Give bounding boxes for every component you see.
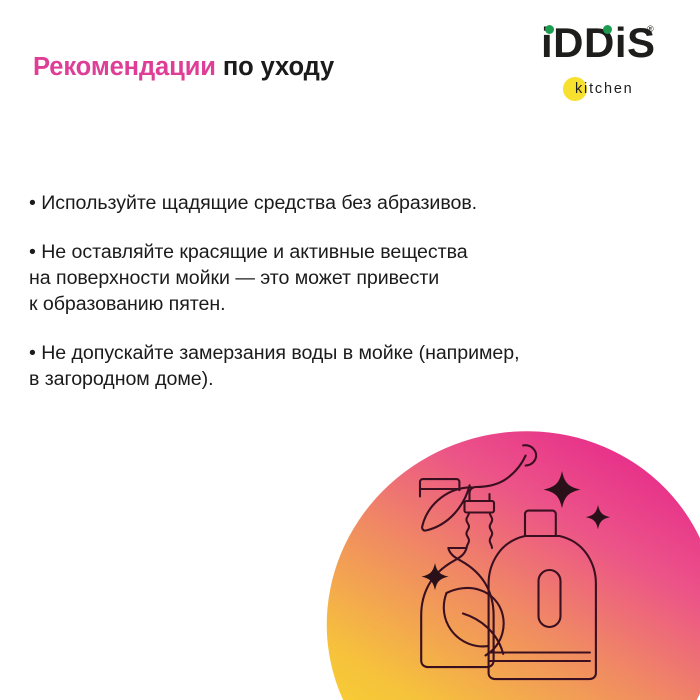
gradient-blob — [277, 381, 700, 700]
brand-logo: iDDiS ® kitchen — [541, 22, 681, 104]
care-instructions-page: Рекомендации по уходу iDDiS ® kitchen • … — [0, 0, 700, 700]
sparkle-icon — [586, 505, 610, 529]
page-title: Рекомендации по уходу — [33, 53, 334, 81]
page-title-rest: по уходу — [216, 53, 334, 81]
logo-green-dot-icon — [545, 25, 554, 34]
brand-sublabel-text: kitchen — [575, 82, 634, 97]
page-title-accent: Рекомендации — [33, 53, 216, 81]
list-item: • Не допускайте замерзания воды в мойке … — [29, 340, 669, 392]
logo-green-dot-icon — [603, 25, 612, 34]
brand-sublabel: kitchen — [563, 76, 634, 102]
list-item: • Используйте щадящие средства без абраз… — [29, 190, 669, 216]
brand-wordmark: iDDiS — [541, 22, 656, 64]
list-item: • Не оставляйте красящие и активные веще… — [29, 239, 669, 317]
detergent-bottle-icon — [489, 511, 596, 680]
registered-trademark-icon: ® — [647, 25, 654, 34]
care-tips-list: • Используйте щадящие средства без абраз… — [29, 190, 669, 392]
sparkle-icon — [543, 471, 580, 508]
spray-bottle-icon — [420, 445, 536, 667]
sparkle-icon — [421, 563, 448, 590]
